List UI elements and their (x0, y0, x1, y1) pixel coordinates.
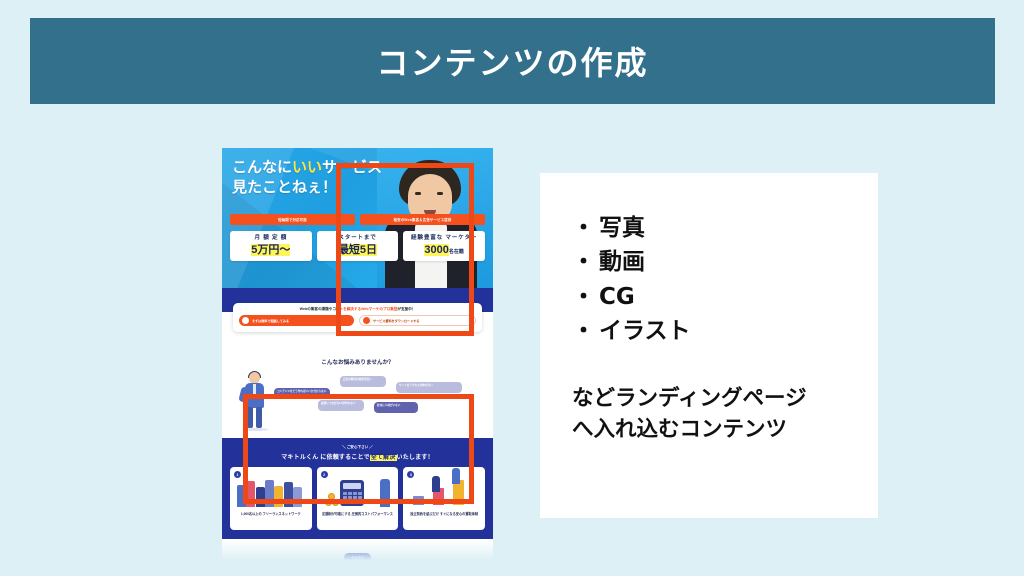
lp-cta-primary-label: まずは無料で相談してみる (252, 318, 289, 323)
lp-stat-1-value: 5万円〜 (251, 244, 290, 256)
bullet-marker: ・ (572, 284, 595, 310)
hero-photo-highlight-box (336, 163, 474, 336)
lp-bubble-2: 広告の費用対効果が低い (340, 376, 386, 387)
lp-solution-card-3-caption: 独立契約を結ぶだけ すぐになる安心の買取体制 (406, 512, 482, 517)
list-item-label: CG (599, 284, 635, 310)
bullet-marker: ・ (572, 318, 595, 344)
slide-header-bar: コンテンツの作成 (30, 18, 995, 104)
list-item: ・動画 (572, 245, 878, 279)
lp-bubble-3: サイトのアクセスが伸びない (396, 382, 462, 393)
lp-worries-heading: こんなお悩みありませんか？ (222, 358, 493, 366)
list-item-label: 写真 (599, 215, 645, 241)
page-title: コンテンツの作成 (376, 38, 648, 84)
list-item-label: 動画 (599, 249, 645, 275)
lp-bottom-fade (222, 540, 493, 566)
bullet-marker: ・ (572, 215, 595, 241)
lp-solution-card-2-caption: 定額制が可能にする 圧倒的コストパフォーマンス (320, 512, 396, 517)
lp-bubble-3-label: サイトのアクセスが伸びない (396, 382, 462, 390)
lp-bubble-2-label: 広告の費用対効果が低い (340, 376, 386, 384)
three-cards-highlight-box (243, 394, 474, 504)
bullet-marker: ・ (572, 249, 595, 275)
panel-note-line-1: などランディングページ (572, 384, 878, 415)
lp-badge-1-label: 短納期で対応可能 (278, 217, 307, 222)
content-type-list: ・写真 ・動画 ・CG ・イラスト (572, 211, 878, 348)
phone-icon (242, 317, 249, 324)
content-list-panel: ・写真 ・動画 ・CG ・イラスト などランディングページ へ入れ込むコンテンツ (540, 173, 878, 518)
lp-headline-part-2: いい (292, 158, 322, 176)
list-item: ・イラスト (572, 314, 878, 348)
lp-solution-card-1-caption: 1,000名以上の フリーランスネットワーク (233, 512, 309, 517)
lp-stat-card-1: 月 額 定 額 5万円〜 (230, 231, 312, 261)
panel-note-line-2: へ入れ込むコンテンツ (572, 415, 878, 446)
list-item: ・写真 (572, 211, 878, 245)
lp-headline-line-2: 見たことねぇ！ (232, 178, 337, 196)
panel-note: などランディングページ へ入れ込むコンテンツ (572, 384, 878, 445)
lp-stat-1-title: 月 額 定 額 (232, 235, 310, 243)
lp-headline-part-1: こんなに (232, 158, 292, 176)
list-item: ・CG (572, 280, 878, 314)
list-item-label: イラスト (599, 318, 691, 344)
